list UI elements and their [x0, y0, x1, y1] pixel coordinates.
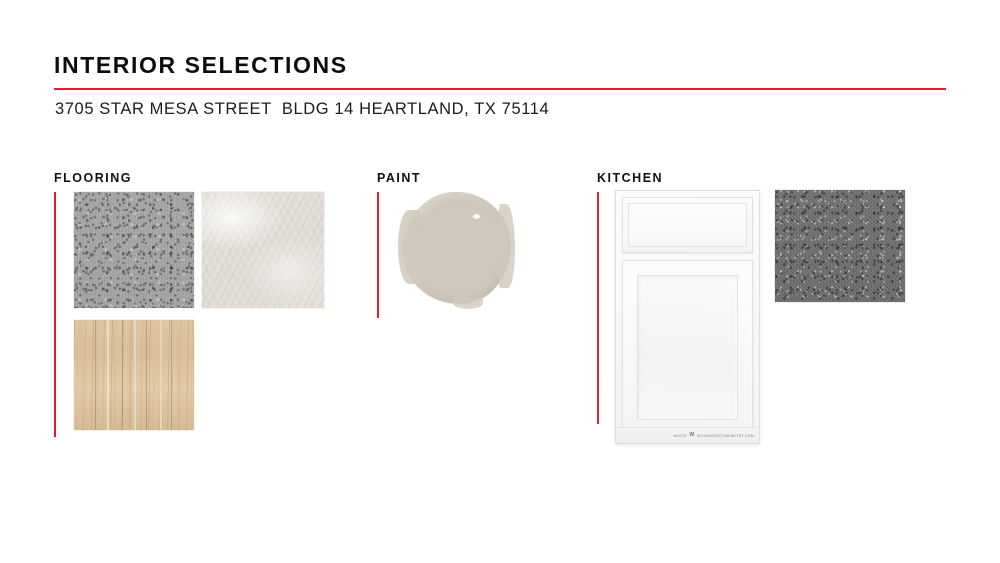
swatch-dark-gray-granite-counter[interactable]: [775, 190, 905, 302]
paint-drip: [453, 297, 483, 309]
cabinet-drawer-front: [622, 197, 753, 253]
page-footer: EQUAL HOUSING OPPORTUNITY *Some products…: [0, 484, 1000, 563]
property-address: 3705 STAR MESA STREET BLDG 14 HEARTLAND,…: [55, 100, 549, 120]
swatch-gray-speckled-tile[interactable]: [74, 192, 194, 308]
section-label-kitchen: KITCHEN: [597, 172, 663, 185]
swatch-white-shaker-cabinet[interactable]: WHITE W WOODMONTCABINETRY.COM: [615, 190, 760, 444]
cabinet-brand-url: WOODMONTCABINETRY.COM: [697, 434, 754, 438]
swatch-greige-paint-blob[interactable]: [397, 186, 519, 312]
accent-bar-flooring: [54, 192, 56, 437]
cabinet-finish-label: WHITE: [674, 434, 687, 438]
section-label-flooring: FLOORING: [54, 172, 132, 185]
swatch-light-oak-plank[interactable]: [74, 320, 194, 430]
woodmont-logo-icon: W: [689, 433, 694, 438]
paint-highlight-speck: [473, 214, 480, 219]
paint-blob-shape: [403, 192, 511, 304]
section-label-paint: PAINT: [377, 172, 421, 185]
interior-selections-page: INTERIOR SELECTIONS 3705 STAR MESA STREE…: [0, 0, 1000, 563]
accent-bar-kitchen: [597, 192, 599, 424]
page-title: INTERIOR SELECTIONS: [54, 54, 348, 77]
cabinet-label-bar: WHITE W WOODMONTCABINETRY.COM: [616, 427, 759, 443]
title-divider-rule: [54, 88, 946, 90]
accent-bar-paint: [377, 192, 379, 318]
cabinet-door-front: [622, 260, 753, 435]
swatch-beige-marble-tile[interactable]: [202, 192, 324, 308]
cabinet-door-recessed-panel: [637, 275, 738, 420]
